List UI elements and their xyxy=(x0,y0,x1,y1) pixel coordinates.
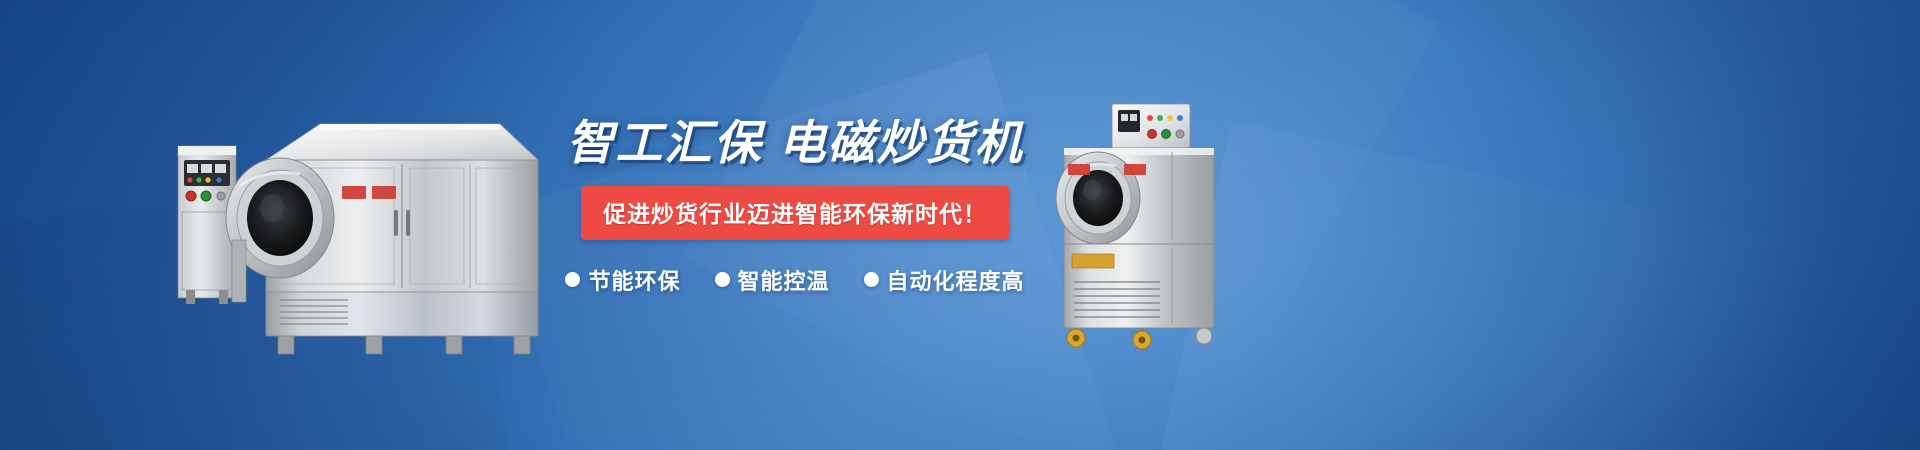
banner-slogan-ribbon: 促进炒货行业迈进智能环保新时代！ xyxy=(581,186,1009,240)
headline-product: 电磁炒货机 xyxy=(779,116,1024,169)
feature-item-2: 智能控温 xyxy=(715,264,830,296)
banner-headline: 智工汇保电磁炒货机 xyxy=(560,118,1030,168)
feature-item-3: 自动化程度高 xyxy=(864,264,1025,296)
banner-ribbon-wrapper: 促进炒货行业迈进智能环保新时代！ xyxy=(560,186,1030,240)
bullet-dot-icon xyxy=(715,272,730,287)
bullet-dot-icon xyxy=(864,272,879,287)
feature-label-3: 自动化程度高 xyxy=(887,264,1025,296)
feature-item-1: 节能环保 xyxy=(565,264,680,296)
feature-label-1: 节能环保 xyxy=(588,264,680,296)
control-head xyxy=(1112,104,1190,148)
headline-brand: 智工汇保 xyxy=(567,116,763,169)
caster-wheels xyxy=(1067,328,1212,349)
bullet-dot-icon xyxy=(565,272,580,287)
banner-content: 智工汇保电磁炒货机 促进炒货行业迈进智能环保新时代！ 节能环保 智能控温 自动化… xyxy=(560,118,1030,296)
banner-feature-list: 节能环保 智能控温 自动化程度高 xyxy=(560,264,1030,296)
feature-label-2: 智能控温 xyxy=(738,264,830,296)
product-image-roaster-large xyxy=(170,90,590,360)
product-hero-banner: 智工汇保电磁炒货机 促进炒货行业迈进智能环保新时代！ 节能环保 智能控温 自动化… xyxy=(0,0,1920,450)
product-image-roaster-small xyxy=(1020,78,1270,368)
